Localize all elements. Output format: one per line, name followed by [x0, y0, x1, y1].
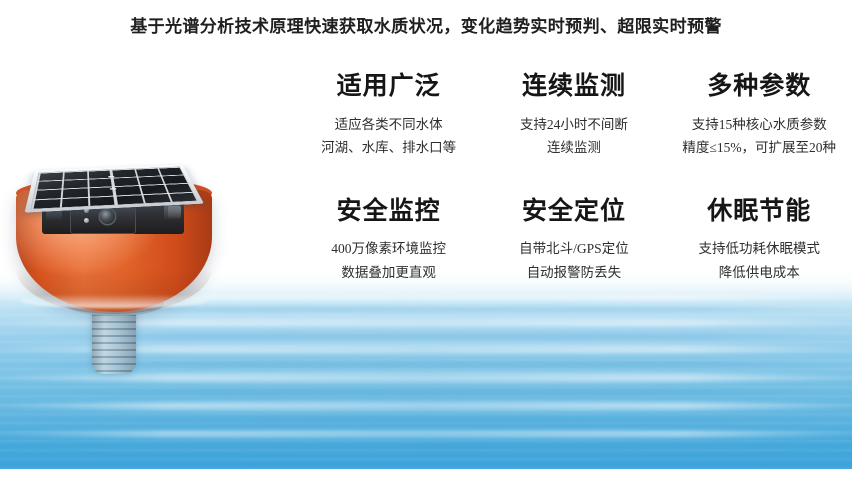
feature-card-security-monitoring: 安全监控 400万像素环境监控 数据叠加更直观 [296, 197, 481, 284]
wave-shadow [0, 417, 852, 426]
feature-title: 多种参数 [667, 72, 852, 102]
feature-title: 适用广泛 [296, 72, 481, 102]
feature-description: 适应各类不同水体 河湖、水库、排水口等 [296, 113, 481, 159]
camera-lens-icon [100, 209, 115, 224]
feature-grid: 适用广泛 适应各类不同水体 河湖、水库、排水口等 连续监测 支持24小时不间断 … [296, 72, 852, 284]
page-title: 基于光谱分析技术原理快速获取水质状况，变化趋势实时预判、超限实时预警 [0, 16, 852, 38]
feature-title: 安全定位 [481, 197, 666, 227]
feature-card-positioning: 安全定位 自带北斗/GPS定位 自动报警防丢失 [481, 197, 666, 284]
solar-busbar-node [110, 188, 117, 190]
feature-description: 400万像素环境监控 数据叠加更直观 [296, 237, 481, 283]
water-quality-buoy [8, 118, 222, 366]
feature-description: 自带北斗/GPS定位 自动报警防丢失 [481, 237, 666, 283]
feature-row-bottom: 安全监控 400万像素环境监控 数据叠加更直观 安全定位 自带北斗/GPS定位 … [296, 197, 852, 284]
side-port [168, 206, 181, 218]
feature-description: 支持15种核心水质参数 精度≤15%，可扩展至20种 [667, 113, 852, 159]
feature-line: 河湖、水库、排水口等 [296, 136, 481, 159]
feature-line: 数据叠加更直观 [296, 261, 481, 284]
feature-title: 休眠节能 [667, 197, 852, 227]
feature-description: 支持24小时不间断 连续监测 [481, 113, 666, 159]
feature-line: 降低供电成本 [667, 261, 852, 284]
feature-line: 适应各类不同水体 [296, 113, 481, 136]
feature-card-continuous-monitoring: 连续监测 支持24小时不间断 连续监测 [481, 72, 666, 159]
feature-line: 支持低功耗休眠模式 [667, 237, 852, 260]
wave-highlight [0, 430, 852, 438]
solar-busbar-node [108, 176, 114, 178]
feature-title: 连续监测 [481, 72, 666, 102]
feature-title: 安全监控 [296, 197, 481, 227]
feature-card-power-saving: 休眠节能 支持低功耗休眠模式 降低供电成本 [667, 197, 852, 284]
wave-highlight [0, 372, 852, 383]
waterline-highlight [20, 294, 208, 308]
feature-line: 精度≤15%，可扩展至20种 [667, 136, 852, 159]
feature-line: 400万像素环境监控 [296, 237, 481, 260]
feature-description: 支持低功耗休眠模式 降低供电成本 [667, 237, 852, 283]
feature-card-applicability: 适用广泛 适应各类不同水体 河湖、水库、排水口等 [296, 72, 481, 159]
wave-highlight [0, 401, 852, 411]
feature-line: 自带北斗/GPS定位 [481, 237, 666, 260]
feature-row-top: 适用广泛 适应各类不同水体 河湖、水库、排水口等 连续监测 支持24小时不间断 … [296, 72, 852, 159]
slide-canvas: 基于光谱分析技术原理快速获取水质状况，变化趋势实时预判、超限实时预警 适用广泛 … [0, 0, 852, 479]
feature-line: 支持15种核心水质参数 [667, 113, 852, 136]
feature-line: 自动报警防丢失 [481, 261, 666, 284]
feature-line: 支持24小时不间断 [481, 113, 666, 136]
camera-sensor-icon [84, 218, 89, 223]
wave-shadow [0, 388, 852, 397]
feature-line: 连续监测 [481, 136, 666, 159]
feature-card-multi-parameter: 多种参数 支持15种核心水质参数 精度≤15%，可扩展至20种 [667, 72, 852, 159]
solar-cell-grid [30, 167, 197, 210]
wave-shadow [0, 444, 852, 452]
